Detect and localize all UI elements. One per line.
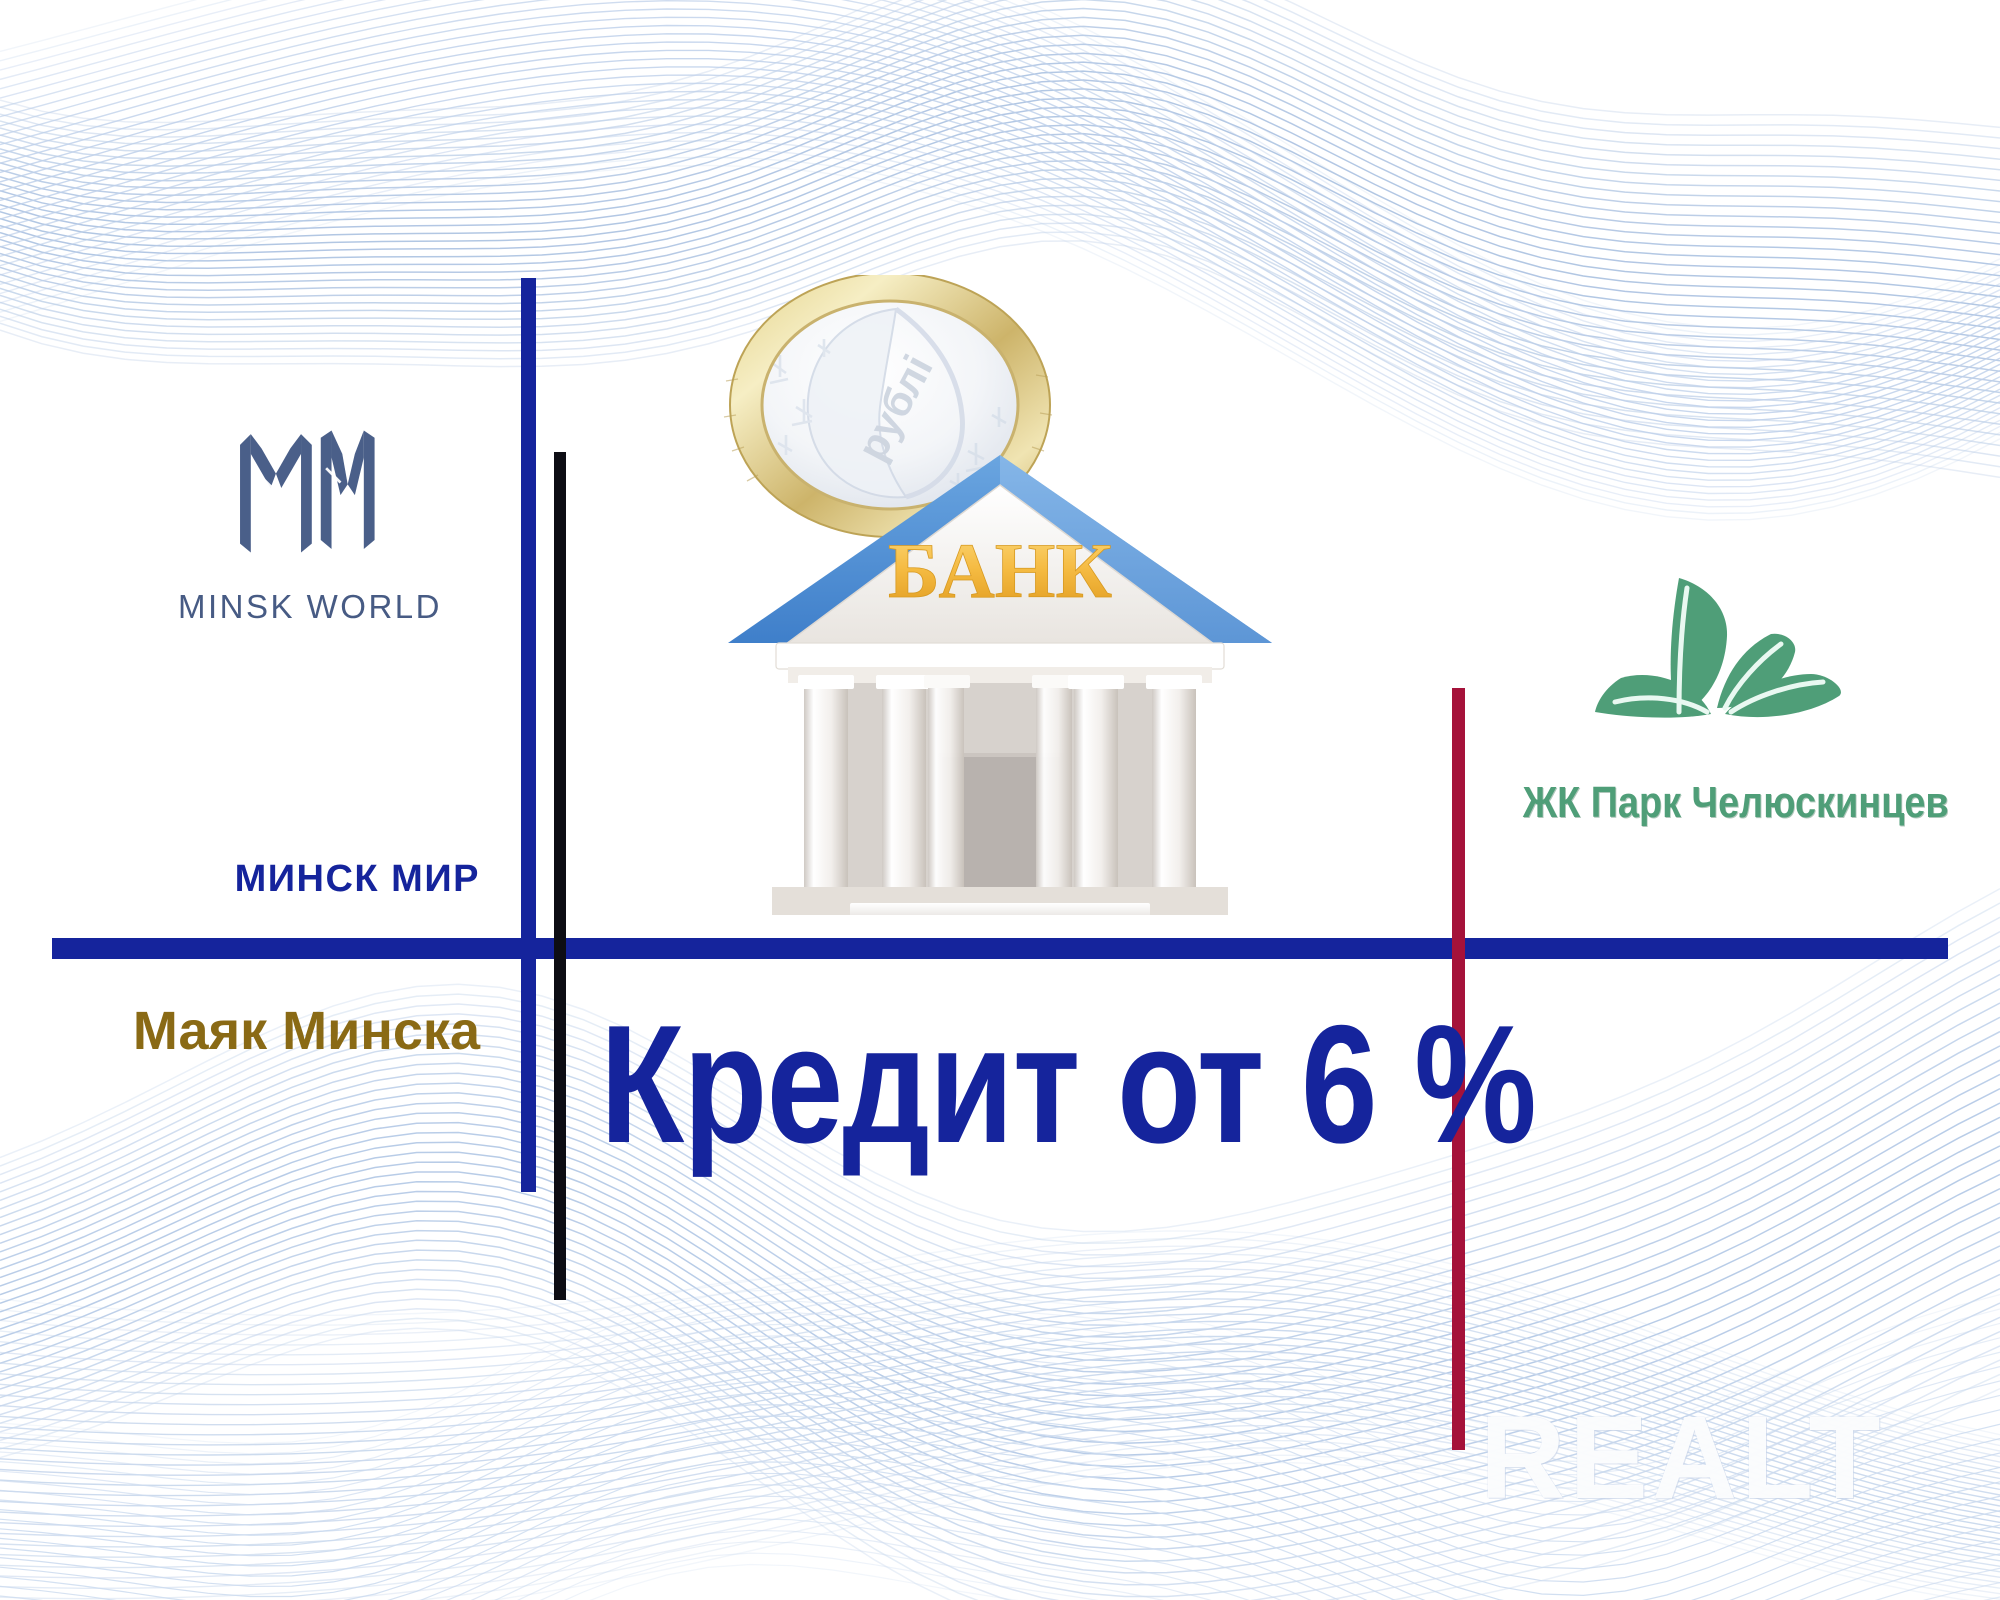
minsk-world-mw-monogram-icon (220, 418, 400, 566)
bank-building-icon: рублі БАНК (700, 275, 1300, 915)
headline-credit-rate: Кредит от 6 % (600, 1000, 1536, 1168)
vertical-black-rule (554, 452, 566, 1300)
bank-sign-text: БАНК (888, 527, 1112, 614)
green-leaves-logo-icon (1575, 570, 1875, 770)
project-name-minsk-mir: МИНСК МИР (120, 858, 480, 901)
bank-illustration: рублі БАНК (700, 275, 1300, 915)
bank-step-1 (850, 903, 1150, 915)
project-name-mayak-minska: Маяк Минска (100, 1000, 480, 1062)
vertical-blue-rule (521, 278, 536, 1192)
minsk-world-logo: MINSK WORLD (160, 418, 460, 626)
poster-canvas: REALT MINSK WORLD (0, 0, 2000, 1600)
park-chelyuskintsev-wordmark: ЖК Парк Челюскинцев (1523, 778, 1927, 828)
park-chelyuskintsev-logo: ЖК Парк Челюскинцев (1490, 570, 1960, 828)
minsk-world-wordmark: MINSK WORLD (160, 588, 460, 626)
horizontal-blue-rule (52, 938, 1948, 959)
realt-watermark: REALT (1480, 1390, 1885, 1526)
